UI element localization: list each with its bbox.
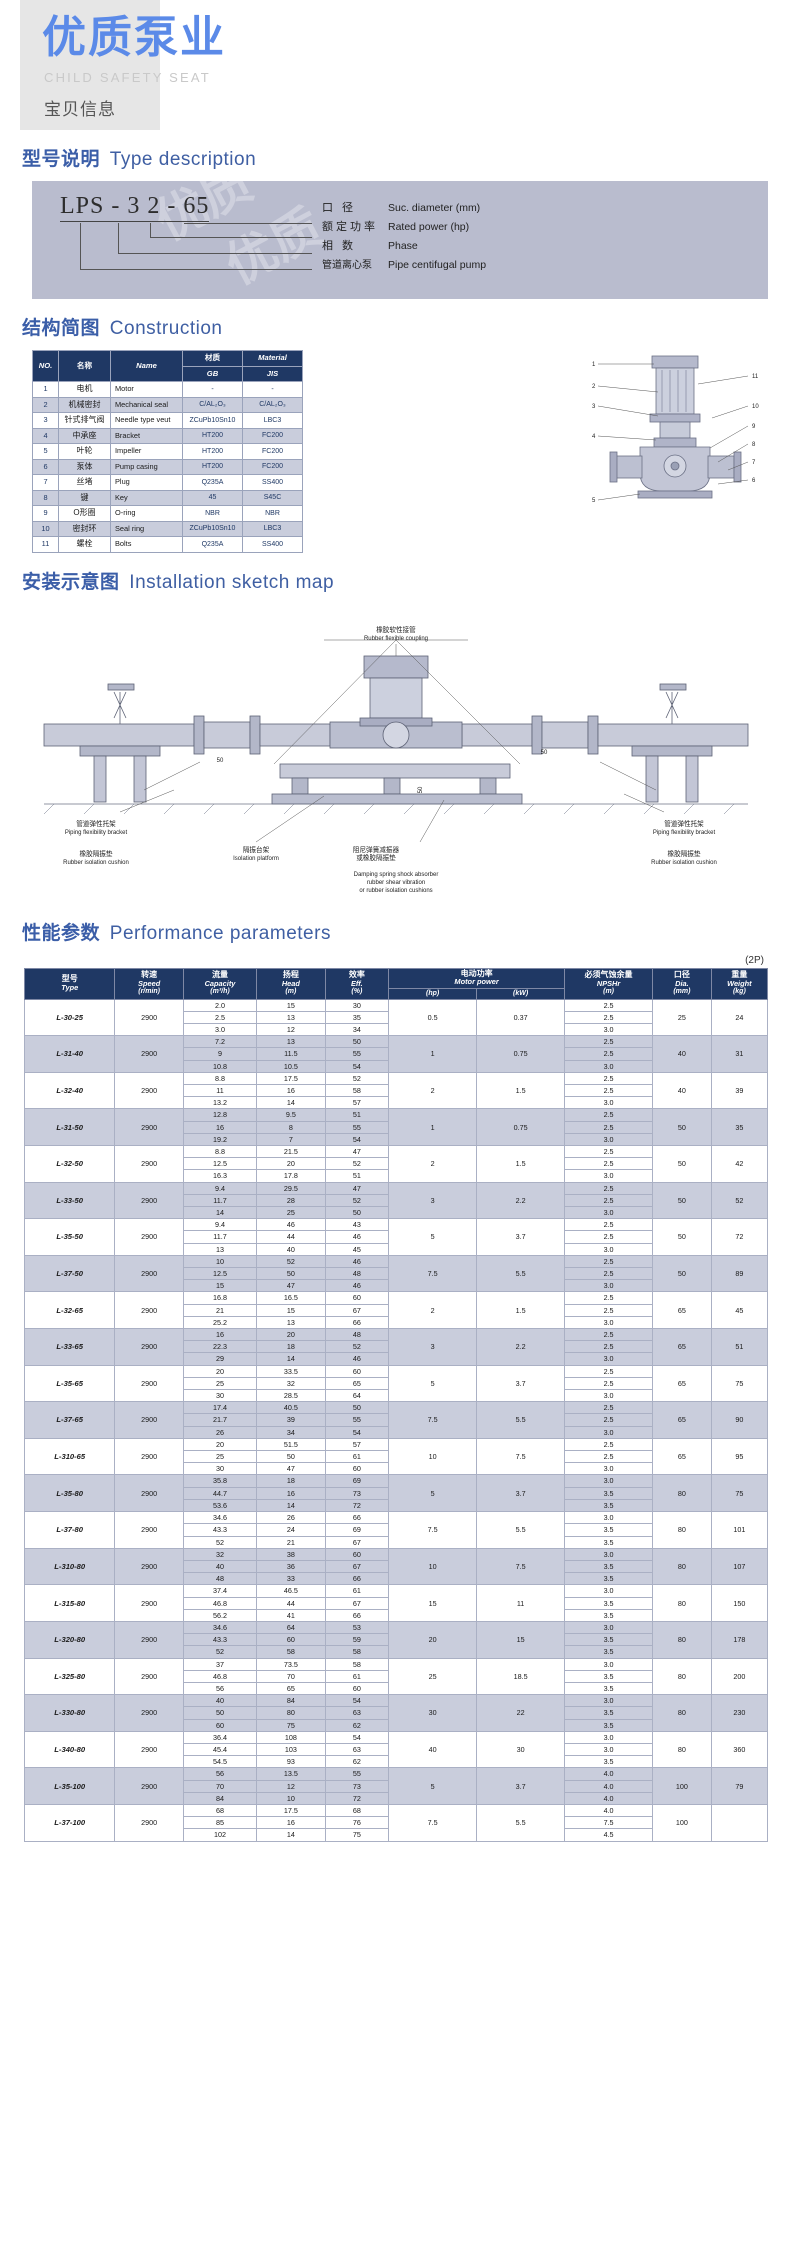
- cell-capacity: 11.7: [183, 1231, 256, 1243]
- model-code-text: LPS - 3 2 - 65: [60, 193, 209, 222]
- cell-type: L-340-80: [25, 1731, 115, 1768]
- svg-text:3: 3: [592, 404, 596, 410]
- cell-kw: 5.5: [477, 1512, 565, 1549]
- cell-npshr: 2.5: [565, 1365, 653, 1377]
- cell-name-cn: 叶轮: [59, 444, 111, 460]
- cell-name-en: Bolts: [111, 537, 183, 553]
- cell-gb: 45: [183, 490, 243, 506]
- cell-kw: 1.5: [477, 1146, 565, 1183]
- cell-type: L-37-65: [25, 1402, 115, 1439]
- th-type-en: Type: [26, 984, 113, 992]
- cell-weight: 178: [711, 1621, 767, 1658]
- cell-npshr: 3.5: [565, 1499, 653, 1511]
- leader-line-pump: [118, 223, 119, 253]
- svg-text:Piping flexibility bracket: Piping flexibility bracket: [653, 830, 716, 836]
- cell-capacity: 84: [183, 1792, 256, 1804]
- cell-head: 15: [257, 1304, 325, 1316]
- cell-npshr: 3.0: [565, 1133, 653, 1145]
- cell-npshr: 2.5: [565, 1231, 653, 1243]
- cell-kw: 1.5: [477, 1292, 565, 1329]
- cell-kw: 22: [477, 1695, 565, 1732]
- table-row: 7丝堵PlugQ235ASS400: [33, 475, 303, 491]
- cell-hp: 5: [389, 1475, 477, 1512]
- cell-hp: 2: [389, 1292, 477, 1329]
- cell-kw: 5.5: [477, 1402, 565, 1439]
- cell-eff: 48: [325, 1329, 389, 1341]
- cell-hp: 1: [389, 1109, 477, 1146]
- cell-npshr: 3.5: [565, 1670, 653, 1682]
- cell-hp: 7.5: [389, 1255, 477, 1292]
- cell-head: 50: [257, 1451, 325, 1463]
- cell-npshr: 3.5: [565, 1573, 653, 1585]
- cell-head: 47: [257, 1280, 325, 1292]
- cell-name-en: O-ring: [111, 506, 183, 522]
- cell-gb: HT200: [183, 444, 243, 460]
- table-row: L-32-65290016.816.56021.52.56545: [25, 1292, 768, 1304]
- col-name-cn: 名称: [59, 351, 111, 382]
- col-gb: GB: [183, 366, 243, 382]
- cell-npshr: 2.5: [565, 1146, 653, 1158]
- cell-kw: 1.5: [477, 1072, 565, 1109]
- cell-head: 52: [257, 1255, 325, 1267]
- cell-capacity: 2.0: [183, 999, 256, 1011]
- performance-table-body: L-30-2529002.015300.50.372.525242.513352…: [25, 999, 768, 1841]
- cell-head: 29.5: [257, 1182, 325, 1194]
- cell-eff: 67: [325, 1560, 389, 1572]
- cell-hp: 7.5: [389, 1512, 477, 1549]
- cell-head: 28: [257, 1194, 325, 1206]
- svg-text:10: 10: [752, 404, 759, 410]
- cell-eff: 63: [325, 1707, 389, 1719]
- cell-npshr: 3.5: [565, 1646, 653, 1658]
- cell-dia: 40: [653, 1036, 712, 1073]
- type-label-en: Rated power (hp): [388, 221, 469, 233]
- table-row: 3针式排气阀Needle type veutZCuPb10Sn10LBC3: [33, 413, 303, 429]
- parts-table-body: 1电机Motor--2机械密封Mechanical sealC/AL₂O₃C/A…: [33, 382, 303, 553]
- cell-name-cn: 中承座: [59, 428, 111, 444]
- cell-npshr: 3.0: [565, 1390, 653, 1402]
- cell-speed: 2900: [115, 1585, 183, 1622]
- cell-no: 8: [33, 490, 59, 506]
- leader-h-pump: [118, 253, 312, 254]
- table-row: L-340-80290036.41085440303.080360: [25, 1731, 768, 1743]
- table-row: L-33-5029009.429.54732.22.55052: [25, 1182, 768, 1194]
- cell-capacity: 20: [183, 1438, 256, 1450]
- cell-capacity: 37: [183, 1658, 256, 1670]
- cell-head: 17.5: [257, 1072, 325, 1084]
- cell-eff: 68: [325, 1804, 389, 1816]
- cell-eff: 54: [325, 1426, 389, 1438]
- cell-weight: 75: [711, 1365, 767, 1402]
- cell-npshr: 3.5: [565, 1682, 653, 1694]
- cell-no: 5: [33, 444, 59, 460]
- cell-capacity: 16: [183, 1121, 256, 1133]
- cell-head: 13.5: [257, 1768, 325, 1780]
- cell-capacity: 13.2: [183, 1097, 256, 1109]
- cell-head: 8: [257, 1121, 325, 1133]
- cell-eff: 67: [325, 1304, 389, 1316]
- cell-head: 25: [257, 1207, 325, 1219]
- cell-eff: 46: [325, 1231, 389, 1243]
- cell-npshr: 7.5: [565, 1817, 653, 1829]
- cell-head: 14: [257, 1829, 325, 1841]
- th-speed-unit: (r/min): [116, 988, 181, 996]
- cell-dia: 65: [653, 1438, 712, 1475]
- cell-type: L-33-65: [25, 1329, 115, 1366]
- cell-eff: 47: [325, 1182, 389, 1194]
- cell-weight: 72: [711, 1219, 767, 1256]
- masthead: 优质泵业 CHILD SAFETY SEAT 宝贝信息: [0, 0, 790, 130]
- cell-name-cn: 针式排气阀: [59, 413, 111, 429]
- cell-head: 17.8: [257, 1170, 325, 1182]
- cell-npshr: 2.5: [565, 1268, 653, 1280]
- cell-capacity: 12.5: [183, 1158, 256, 1170]
- svg-text:Piping flexibility bracket: Piping flexibility bracket: [65, 830, 128, 836]
- cell-dia: 50: [653, 1219, 712, 1256]
- cell-eff: 61: [325, 1451, 389, 1463]
- heading-construction-cn: 结构简图: [22, 318, 100, 339]
- table-row: 11螺栓BoltsQ235ASS400: [33, 537, 303, 553]
- th-type: 型号 Type: [25, 968, 115, 999]
- cell-eff: 50: [325, 1402, 389, 1414]
- th-kw-unit: (kW): [478, 990, 563, 998]
- cell-gb: C/AL₂O₃: [183, 397, 243, 413]
- cell-gb: -: [183, 382, 243, 398]
- cell-hp: 2: [389, 1146, 477, 1183]
- cell-eff: 54: [325, 1133, 389, 1145]
- cell-speed: 2900: [115, 1475, 183, 1512]
- table-row: L-35-6529002033.56053.72.56575: [25, 1365, 768, 1377]
- cell-eff: 52: [325, 1194, 389, 1206]
- cell-kw: 0.75: [477, 1109, 565, 1146]
- cell-eff: 55: [325, 1048, 389, 1060]
- cell-capacity: 45.4: [183, 1743, 256, 1755]
- cell-eff: 57: [325, 1438, 389, 1450]
- cell-kw: 7.5: [477, 1438, 565, 1475]
- cell-type: L-37-50: [25, 1255, 115, 1292]
- cell-head: 108: [257, 1731, 325, 1743]
- cell-npshr: 3.0: [565, 1207, 653, 1219]
- cell-head: 47: [257, 1463, 325, 1475]
- cell-capacity: 32: [183, 1548, 256, 1560]
- cell-weight: 31: [711, 1036, 767, 1073]
- cell-eff: 67: [325, 1536, 389, 1548]
- cell-dia: 80: [653, 1585, 712, 1622]
- cell-capacity: 12.5: [183, 1268, 256, 1280]
- cell-speed: 2900: [115, 1438, 183, 1475]
- table-row: L-37-65290017.440.5507.55.52.56590: [25, 1402, 768, 1414]
- cell-name-cn: 泵体: [59, 459, 111, 475]
- col-material-en: Material: [243, 351, 303, 367]
- th-npshr-en: NPSHr: [566, 980, 651, 988]
- cell-head: 32: [257, 1377, 325, 1389]
- cell-kw: 18.5: [477, 1658, 565, 1695]
- cell-eff: 66: [325, 1609, 389, 1621]
- th-speed: 转速 Speed (r/min): [115, 968, 183, 999]
- cell-name-en: Motor: [111, 382, 183, 398]
- cell-npshr: 2.5: [565, 1451, 653, 1463]
- cell-hp: 3: [389, 1329, 477, 1366]
- cell-speed: 2900: [115, 1804, 183, 1841]
- cell-eff: 46: [325, 1280, 389, 1292]
- table-row: 1电机Motor--: [33, 382, 303, 398]
- cell-hp: 10: [389, 1438, 477, 1475]
- cell-eff: 46: [325, 1255, 389, 1267]
- cell-npshr: 2.5: [565, 1109, 653, 1121]
- cell-eff: 45: [325, 1243, 389, 1255]
- heading-type-description-cn: 型号说明: [22, 149, 100, 170]
- cell-eff: 72: [325, 1792, 389, 1804]
- cell-weight: 75: [711, 1475, 767, 1512]
- cell-kw: 5.5: [477, 1804, 565, 1841]
- cell-name-cn: 丝堵: [59, 475, 111, 491]
- cell-name-cn: 键: [59, 490, 111, 506]
- svg-text:Damping spring shock absorber: Damping spring shock absorber: [354, 872, 439, 878]
- cell-weight: 45: [711, 1292, 767, 1329]
- cell-eff: 47: [325, 1146, 389, 1158]
- svg-text:6: 6: [752, 478, 756, 484]
- cell-weight: 79: [711, 1768, 767, 1805]
- cell-npshr: 3.0: [565, 1695, 653, 1707]
- cell-npshr: 3.0: [565, 1475, 653, 1487]
- cell-jis: NBR: [243, 506, 303, 522]
- col-no: NO.: [33, 351, 59, 382]
- cell-npshr: 3.0: [565, 1585, 653, 1597]
- cell-speed: 2900: [115, 1182, 183, 1219]
- cell-kw: 11: [477, 1585, 565, 1622]
- cell-capacity: 19.2: [183, 1133, 256, 1145]
- cell-npshr: 2.5: [565, 1438, 653, 1450]
- cell-npshr: 3.5: [565, 1536, 653, 1548]
- th-capacity: 流量 Capacity (m³/h): [183, 968, 256, 999]
- th-hp: (hp): [389, 988, 477, 999]
- cell-head: 93: [257, 1756, 325, 1768]
- parts-table-header-row: NO. 名称 Name 材质 Material: [33, 351, 303, 367]
- cell-eff: 67: [325, 1597, 389, 1609]
- cell-capacity: 17.4: [183, 1402, 256, 1414]
- svg-text:50: 50: [217, 758, 224, 764]
- svg-text:5: 5: [592, 498, 596, 504]
- cell-npshr: 3.5: [565, 1560, 653, 1572]
- cell-name-cn: 密封环: [59, 521, 111, 537]
- cell-weight: 42: [711, 1146, 767, 1183]
- table-row: 9O形圈O-ringNBRNBR: [33, 506, 303, 522]
- cell-head: 13: [257, 1036, 325, 1048]
- type-label-en: Phase: [388, 240, 418, 252]
- cell-eff: 50: [325, 1036, 389, 1048]
- cell-hp: 7.5: [389, 1804, 477, 1841]
- cell-capacity: 29: [183, 1353, 256, 1365]
- cell-head: 75: [257, 1719, 325, 1731]
- cell-head: 60: [257, 1634, 325, 1646]
- heading-installation: 安装示意图 Installation sketch map: [22, 567, 790, 594]
- cell-npshr: 3.0: [565, 1743, 653, 1755]
- cell-jis: S45C: [243, 490, 303, 506]
- cell-npshr: 2.5: [565, 1121, 653, 1133]
- cell-npshr: 3.0: [565, 1353, 653, 1365]
- cell-npshr: 3.0: [565, 1280, 653, 1292]
- cell-head: 7: [257, 1133, 325, 1145]
- cell-npshr: 2.5: [565, 1011, 653, 1023]
- table-row: 4中承座BracketHT200FC200: [33, 428, 303, 444]
- cell-npshr: 3.5: [565, 1597, 653, 1609]
- cell-weight: [711, 1804, 767, 1841]
- type-label-en: Suc. diameter (mm): [388, 202, 480, 214]
- table-row: L-315-80290037.446.56115113.080150: [25, 1585, 768, 1597]
- cell-dia: 80: [653, 1621, 712, 1658]
- cell-eff: 35: [325, 1011, 389, 1023]
- cell-capacity: 46.8: [183, 1670, 256, 1682]
- cell-hp: 5: [389, 1219, 477, 1256]
- cell-capacity: 30: [183, 1390, 256, 1402]
- cell-npshr: 3.5: [565, 1634, 653, 1646]
- svg-text:橡胶隔振垫: 橡胶隔振垫: [80, 849, 113, 858]
- cell-capacity: 21: [183, 1304, 256, 1316]
- cell-dia: 100: [653, 1804, 712, 1841]
- cell-kw: 15: [477, 1621, 565, 1658]
- cell-capacity: 10: [183, 1255, 256, 1267]
- cell-head: 21.5: [257, 1146, 325, 1158]
- table-row: L-35-5029009.4464353.72.55072: [25, 1219, 768, 1231]
- cell-capacity: 85: [183, 1817, 256, 1829]
- cell-no: 10: [33, 521, 59, 537]
- cell-no: 7: [33, 475, 59, 491]
- th-head-en: Head: [258, 980, 323, 988]
- svg-text:Rubber flexible coupling: Rubber flexible coupling: [364, 636, 428, 642]
- cell-npshr: 2.5: [565, 1158, 653, 1170]
- cell-capacity: 56: [183, 1768, 256, 1780]
- cell-dia: 80: [653, 1548, 712, 1585]
- th-weight: 重量 Weight (kg): [711, 968, 767, 999]
- th-eff-en: Eff.: [327, 980, 388, 988]
- heading-performance: 性能参数 Performance parameters: [22, 918, 790, 945]
- table-row: 2机械密封Mechanical sealC/AL₂O₃C/AL₂O₃: [33, 397, 303, 413]
- pole-note: (2P): [0, 955, 764, 966]
- cell-jis: SS400: [243, 537, 303, 553]
- cell-name-en: Mechanical seal: [111, 397, 183, 413]
- cell-name-en: Seal ring: [111, 521, 183, 537]
- cell-head: 24: [257, 1524, 325, 1536]
- installation-sketch-drawing: 橡胶软性接管 Rubber flexible coupling 管道弹性托架 P…: [24, 604, 768, 904]
- cell-head: 16.5: [257, 1292, 325, 1304]
- type-label-list: 口 径 Suc. diameter (mm) 额定功率 Rated power …: [322, 199, 486, 275]
- cell-type: L-325-80: [25, 1658, 115, 1695]
- table-row: 6泵体Pump casingHT200FC200: [33, 459, 303, 475]
- svg-text:隔振台架: 隔振台架: [243, 845, 270, 854]
- cell-capacity: 25: [183, 1451, 256, 1463]
- th-speed-en: Speed: [116, 980, 181, 988]
- th-weight-en: Weight: [713, 980, 766, 988]
- cell-type: L-35-80: [25, 1475, 115, 1512]
- th-hp-unit: (hp): [390, 990, 475, 998]
- cell-eff: 76: [325, 1817, 389, 1829]
- svg-text:2: 2: [592, 384, 596, 390]
- leader-h-power: [150, 237, 312, 238]
- cell-speed: 2900: [115, 1072, 183, 1109]
- cell-type: L-33-50: [25, 1182, 115, 1219]
- cell-capacity: 48: [183, 1573, 256, 1585]
- table-row: L-37-5029001052467.55.52.55089: [25, 1255, 768, 1267]
- cell-eff: 43: [325, 1219, 389, 1231]
- cell-dia: 50: [653, 1255, 712, 1292]
- table-row: L-32-4029008.817.55221.52.54039: [25, 1072, 768, 1084]
- cell-npshr: 2.5: [565, 1329, 653, 1341]
- cell-dia: 65: [653, 1329, 712, 1366]
- installation-section: 橡胶软性接管 Rubber flexible coupling 管道弹性托架 P…: [24, 604, 772, 904]
- type-label-item: 口 径 Suc. diameter (mm): [322, 199, 486, 217]
- cell-hp: 30: [389, 1695, 477, 1732]
- cell-capacity: 9.4: [183, 1182, 256, 1194]
- cell-speed: 2900: [115, 1292, 183, 1329]
- cell-speed: 2900: [115, 1768, 183, 1805]
- cell-type: L-32-40: [25, 1072, 115, 1109]
- cell-no: 9: [33, 506, 59, 522]
- cell-name-en: Pump casing: [111, 459, 183, 475]
- cell-dia: 25: [653, 999, 712, 1036]
- cell-jis: LBC3: [243, 413, 303, 429]
- cell-jis: -: [243, 382, 303, 398]
- cell-capacity: 3.0: [183, 1023, 256, 1035]
- cell-capacity: 44.7: [183, 1487, 256, 1499]
- cell-speed: 2900: [115, 1402, 183, 1439]
- cell-capacity: 70: [183, 1780, 256, 1792]
- cell-capacity: 43.3: [183, 1524, 256, 1536]
- cell-capacity: 43.3: [183, 1634, 256, 1646]
- cell-head: 17.5: [257, 1804, 325, 1816]
- cell-capacity: 35.8: [183, 1475, 256, 1487]
- cell-capacity: 30: [183, 1463, 256, 1475]
- svg-text:Rubber isolation cushion: Rubber isolation cushion: [651, 860, 717, 866]
- cell-eff: 64: [325, 1390, 389, 1402]
- cell-head: 44: [257, 1231, 325, 1243]
- cell-head: 34: [257, 1426, 325, 1438]
- svg-text:Isolation platform: Isolation platform: [233, 856, 279, 862]
- svg-text:9: 9: [752, 424, 756, 430]
- cell-type: L-32-50: [25, 1146, 115, 1183]
- cell-type: L-31-50: [25, 1109, 115, 1146]
- svg-text:Rubber isolation cushion: Rubber isolation cushion: [63, 860, 129, 866]
- cell-weight: 89: [711, 1255, 767, 1292]
- cell-dia: 80: [653, 1731, 712, 1768]
- cell-capacity: 16.8: [183, 1292, 256, 1304]
- cell-speed: 2900: [115, 1255, 183, 1292]
- cell-eff: 34: [325, 1023, 389, 1035]
- cell-capacity: 16: [183, 1329, 256, 1341]
- cell-eff: 58: [325, 1646, 389, 1658]
- cell-type: L-35-50: [25, 1219, 115, 1256]
- cell-npshr: 3.0: [565, 1060, 653, 1072]
- cell-npshr: 4.0: [565, 1780, 653, 1792]
- cell-type: L-37-80: [25, 1512, 115, 1549]
- cell-kw: 3.7: [477, 1768, 565, 1805]
- table-row: L-310-802900323860107.53.080107: [25, 1548, 768, 1560]
- cell-head: 84: [257, 1695, 325, 1707]
- cell-head: 70: [257, 1670, 325, 1682]
- cell-no: 6: [33, 459, 59, 475]
- svg-text:管道弹性托架: 管道弹性托架: [664, 819, 704, 828]
- cell-eff: 73: [325, 1487, 389, 1499]
- brand-subtitle-en: CHILD SAFETY SEAT: [44, 70, 211, 85]
- cell-speed: 2900: [115, 1036, 183, 1073]
- cell-gb: HT200: [183, 428, 243, 444]
- th-dia-unit: (mm): [654, 988, 710, 996]
- th-head: 扬程 Head (m): [257, 968, 325, 999]
- performance-header-row: 型号 Type 转速 Speed (r/min) 流量 Capacity (m³…: [25, 968, 768, 988]
- cell-npshr: 2.5: [565, 1402, 653, 1414]
- th-capacity-en: Capacity: [185, 980, 255, 988]
- cell-capacity: 53.6: [183, 1499, 256, 1511]
- cell-eff: 75: [325, 1829, 389, 1841]
